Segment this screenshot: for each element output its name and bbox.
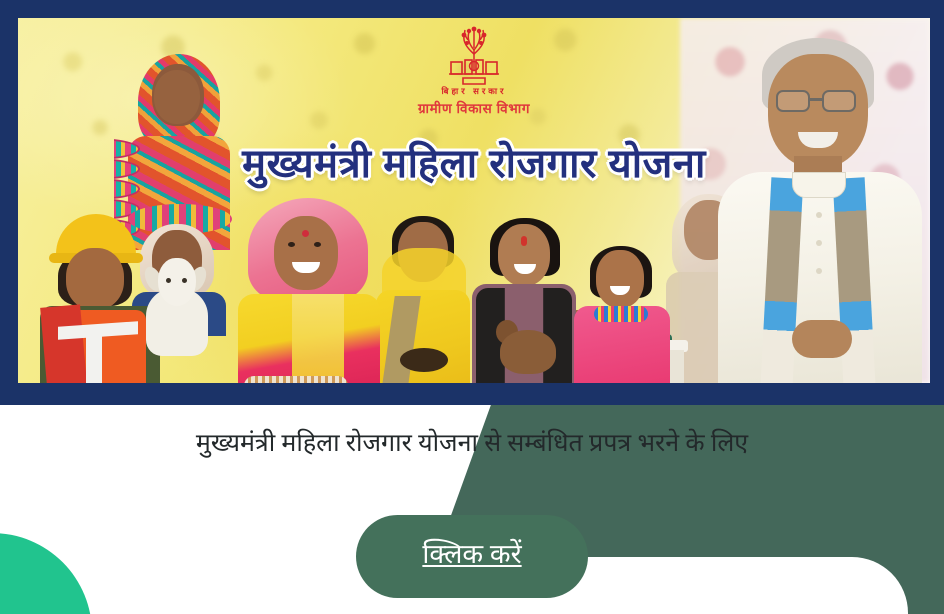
click-here-button[interactable]: क्लिक करें (356, 515, 587, 598)
banner-frame: बिहार सरकार ग्रामीण विकास विभाग (0, 0, 944, 405)
photo-woman-in-pink-and-yellow-saree (234, 198, 384, 383)
photo-girl-in-pink (574, 246, 670, 383)
photo-chief-minister-portrait (710, 32, 926, 383)
page-root: बिहार सरकार ग्रामीण विकास विभाग (0, 0, 944, 614)
cta-button-wrapper: क्लिक करें (0, 515, 944, 598)
emblem-line-2: ग्रामीण विकास विभाग (389, 99, 559, 117)
bodhi-tree-emblem-icon (437, 26, 511, 88)
photo-woman-holding-soil (374, 214, 472, 383)
banner-title: मुख्यमंत्री महिला रोजगार योजना (18, 134, 930, 189)
emblem-line-1: बिहार सरकार (389, 86, 559, 97)
photo-girl-holding-hen (470, 218, 578, 383)
bihar-government-emblem: बिहार सरकार ग्रामीण विकास विभाग (389, 26, 559, 117)
cta-section: मुख्यमंत्री महिला रोजगार योजना से सम्बंध… (0, 405, 944, 614)
photo-goat (136, 254, 218, 358)
cta-heading: मुख्यमंत्री महिला रोजगार योजना से सम्बंध… (0, 427, 944, 461)
scheme-banner: बिहार सरकार ग्रामीण विकास विभाग (18, 18, 930, 383)
